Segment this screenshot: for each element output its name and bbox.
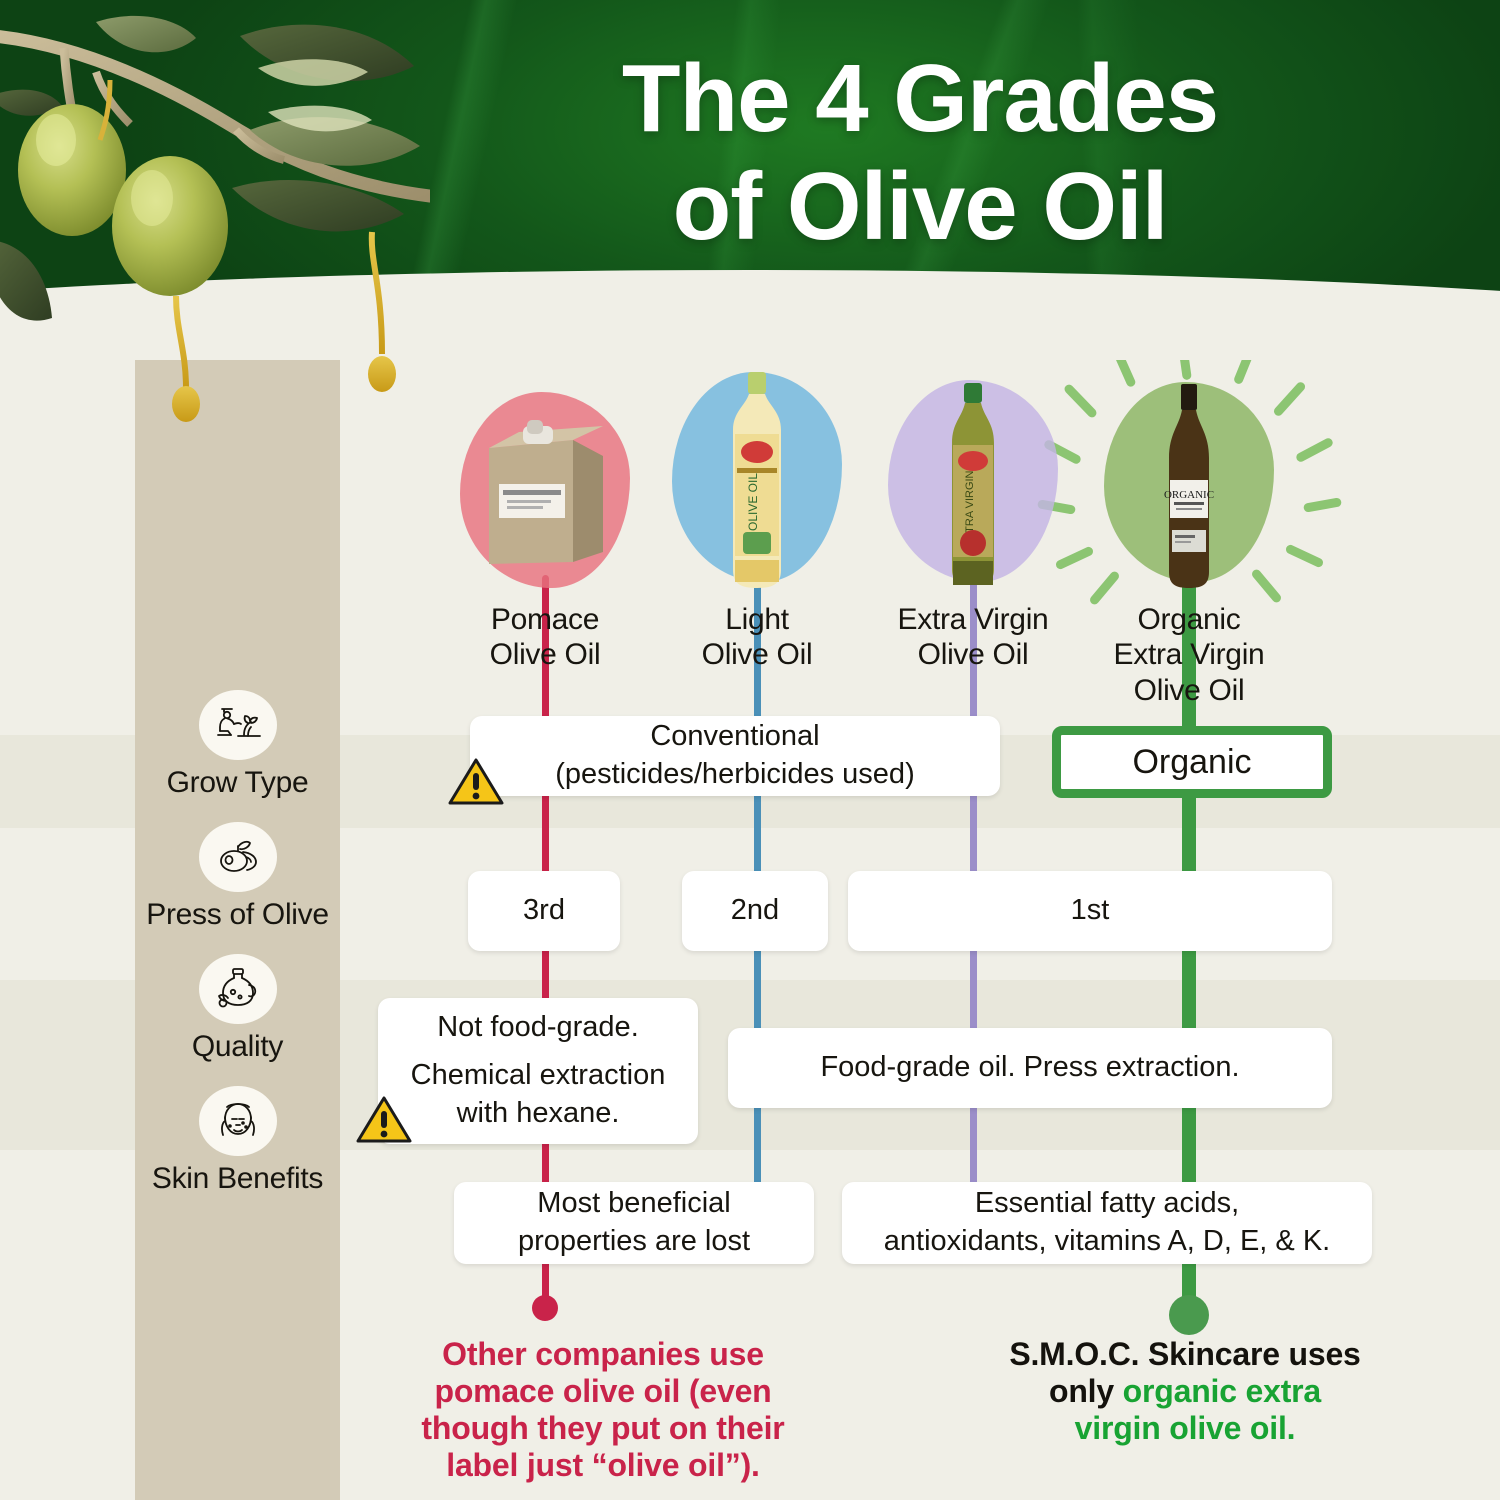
column-name-line: Extra Virgin (880, 602, 1066, 637)
column-name-line: Pomace (452, 602, 638, 637)
olive-fruit-icon (199, 822, 277, 892)
olive-branch-image (0, 0, 430, 440)
pomace-oil-box-icon (477, 412, 613, 572)
column-name-line: Organic (1096, 602, 1282, 637)
column-name-extra-virgin: Extra Virgin Olive Oil (880, 602, 1066, 673)
box-press-3rd: 3rd (468, 871, 620, 951)
column-name-line: Olive Oil (1096, 673, 1282, 708)
box-quality-pomace: Not food-grade. Chemical extraction with… (378, 998, 698, 1144)
box-press-1st: 1st (848, 871, 1332, 951)
box-conventional: Conventional (pesticides/herbicides used… (470, 716, 1000, 796)
woman-face-icon (199, 1086, 277, 1156)
extra-virgin-olive-oil-bottle-icon: EXTRA VIRGIN (940, 383, 1006, 589)
pomace-blob (452, 392, 638, 592)
skin-pomace-line-2: properties are lost (518, 1223, 750, 1261)
column-head-light: OLIVE OIL Light Olive Oil (664, 372, 850, 673)
footer-left-line-4: label just “olive oil”). (368, 1447, 838, 1484)
footer-green-line-1: organic extra (1123, 1373, 1321, 1409)
column-head-organic: ORGANIC Organic Extra Virgin Olive Oil (1096, 382, 1282, 708)
column-head-extra-virgin: EXTRA VIRGIN Extra Virgin Olive Oil (880, 380, 1066, 673)
sidebar-item-grow-type[interactable]: Grow Type (135, 690, 340, 800)
box-skin-pomace: Most beneficial properties are lost (454, 1182, 814, 1264)
column-name-line: Light (664, 602, 850, 637)
title-line-2: of Olive Oil (420, 153, 1420, 261)
column-name-line: Extra Virgin (1096, 637, 1282, 672)
farmer-planting-icon (199, 690, 277, 760)
press-2nd-label: 2nd (731, 892, 779, 930)
column-name-organic: Organic Extra Virgin Olive Oil (1096, 602, 1282, 708)
footer-right: S.M.O.C. Skincare uses only organic extr… (950, 1336, 1420, 1447)
glow-ray (1284, 543, 1324, 568)
svg-text:OLIVE OIL: OLIVE OIL (746, 473, 760, 531)
conventional-line-1: Conventional (650, 718, 819, 756)
column-name-light: Light Olive Oil (664, 602, 850, 673)
box-skin-good: Essential fatty acids, antioxidants, vit… (842, 1182, 1372, 1264)
skin-good-line-1: Essential fatty acids, (975, 1185, 1239, 1223)
quality-pomace-line-2: Chemical extraction (411, 1057, 666, 1095)
end-dot-pomace (532, 1295, 558, 1321)
skin-pomace-line-1: Most beneficial (537, 1185, 730, 1223)
footer-left: Other companies use pomace olive oil (ev… (368, 1336, 838, 1484)
quality-good-label: Food-grade oil. Press extraction. (820, 1049, 1239, 1087)
end-dot-organic (1169, 1295, 1209, 1335)
glow-ray (1295, 437, 1335, 464)
column-name-line: Olive Oil (452, 637, 638, 672)
press-3rd-label: 3rd (523, 892, 565, 930)
press-1st-label: 1st (1071, 892, 1110, 930)
sidebar-item-quality[interactable]: Quality (135, 954, 340, 1064)
sidebar-items: Grow Type Press of Olive (135, 690, 340, 1218)
skin-good-line-2: antioxidants, vitamins A, D, E, & K. (884, 1223, 1330, 1261)
warning-triangle-icon (356, 1094, 412, 1144)
sidebar-item-press-of-olive[interactable]: Press of Olive (135, 822, 340, 932)
footer-green-line-2: virgin olive oil. (950, 1410, 1420, 1447)
box-quality-good: Food-grade oil. Press extraction. (728, 1028, 1332, 1108)
box-press-2nd: 2nd (682, 871, 828, 951)
oil-jug-icon (199, 954, 277, 1024)
page-title: The 4 Grades of Olive Oil (420, 45, 1420, 260)
footer-left-line-2: pomace olive oil (even (368, 1373, 838, 1410)
quality-pomace-line-3: with hexane. (457, 1095, 620, 1133)
conventional-line-2: (pesticides/herbicides used) (555, 756, 914, 794)
title-line-1: The 4 Grades (420, 45, 1420, 153)
glow-ray (1303, 497, 1342, 512)
organic-blob: ORGANIC (1096, 382, 1282, 592)
column-name-line: Olive Oil (880, 637, 1066, 672)
quality-pomace-line-1: Not food-grade. (437, 1009, 639, 1047)
warning-triangle-icon (448, 756, 504, 806)
sidebar-label: Quality (135, 1030, 340, 1064)
footer-left-line-1: Other companies use (368, 1336, 838, 1373)
organic-label: Organic (1132, 740, 1251, 784)
organic-extra-virgin-olive-oil-bottle-icon: ORGANIC (1156, 384, 1222, 590)
column-name-pomace: Pomace Olive Oil (452, 602, 638, 673)
footer-right-line-1: S.M.O.C. Skincare uses (950, 1336, 1420, 1373)
sidebar-item-skin-benefits[interactable]: Skin Benefits (135, 1086, 340, 1196)
light-blob: OLIVE OIL (664, 372, 850, 592)
sidebar-label: Skin Benefits (135, 1162, 340, 1196)
column-head-pomace: Pomace Olive Oil (452, 392, 638, 673)
extra-virgin-blob: EXTRA VIRGIN (880, 380, 1066, 592)
light-olive-oil-bottle-icon: OLIVE OIL (721, 372, 793, 592)
sidebar-label: Press of Olive (135, 898, 340, 932)
footer-left-line-3: though they put on their (368, 1410, 838, 1447)
svg-text:ORGANIC: ORGANIC (1164, 489, 1214, 501)
sidebar-label: Grow Type (135, 766, 340, 800)
column-name-line: Olive Oil (664, 637, 850, 672)
glow-ray (1063, 383, 1099, 419)
box-organic: Organic (1052, 726, 1332, 798)
footer-only-text: only (1049, 1373, 1123, 1409)
footer-right-line-2: only organic extra (950, 1373, 1420, 1410)
